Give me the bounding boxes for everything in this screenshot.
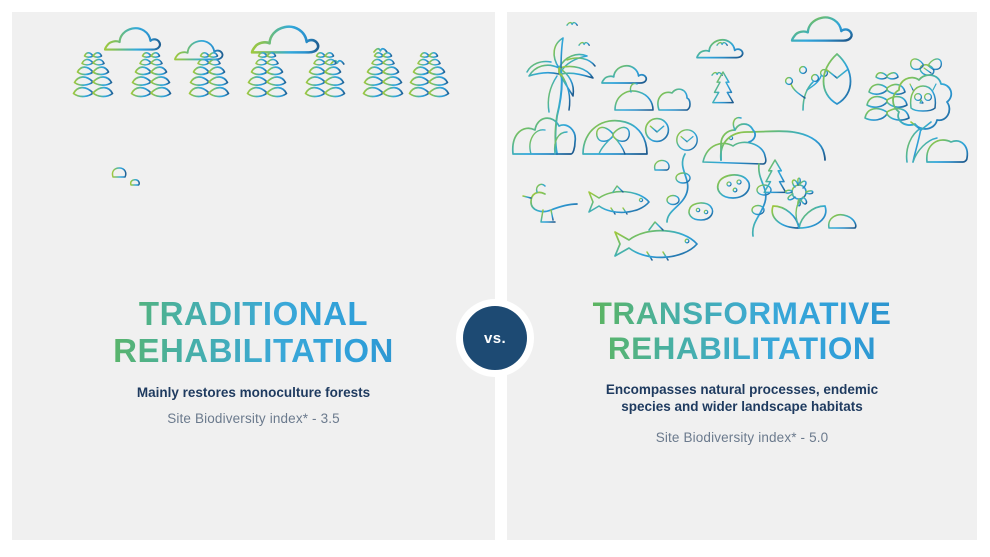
- stone-icon: [829, 215, 856, 228]
- traditional-biodiversity-index: Site Biodiversity index* - 3.5: [12, 411, 495, 426]
- owl-icon: [910, 84, 936, 111]
- bird-icon: [579, 43, 589, 46]
- cloud-icon: [252, 27, 318, 53]
- shrub: [907, 128, 968, 162]
- plantation-tree: [410, 52, 449, 160]
- infographic-root: TRADITIONAL REHABILITATION Mainly restor…: [0, 0, 990, 557]
- ground-bird: [521, 184, 587, 224]
- bee-icon: [911, 59, 942, 77]
- conifer-tree: [713, 72, 733, 111]
- butterfly-icon: [597, 127, 630, 154]
- stone-icon: [112, 168, 139, 185]
- transformative-biodiversity-index: Site Biodiversity index* - 5.0: [507, 430, 977, 445]
- river-stream: [667, 154, 771, 236]
- mushroom-icon: [689, 203, 713, 230]
- bird-icon: [717, 43, 727, 46]
- fern-plant: [865, 73, 909, 162]
- bird-icon: [374, 49, 387, 52]
- traditional-text-block: TRADITIONAL REHABILITATION Mainly restor…: [12, 296, 495, 426]
- shrub: [513, 118, 575, 154]
- shrub-round: [658, 89, 690, 110]
- berry-branch: [786, 67, 828, 110]
- page-title-traditional-line2: REHABILITATION: [12, 333, 495, 370]
- versus-badge: vs.: [463, 306, 527, 370]
- flower-icon: [786, 178, 813, 228]
- stone-icon: [655, 160, 669, 170]
- mushroom-icon: [718, 175, 750, 228]
- cloud-icon: [792, 17, 852, 40]
- plantation-tree: [306, 52, 345, 160]
- transformative-subtitle-line1: Encompasses natural processes, endemic: [606, 382, 878, 397]
- fish-icon: [589, 186, 649, 214]
- cloud-icon: [105, 28, 160, 49]
- transformative-subtitle: Encompasses natural processes, endemic s…: [507, 381, 977, 417]
- panel-traditional: [12, 12, 495, 540]
- hill-small: [615, 83, 653, 110]
- deciduous-tree: [646, 119, 669, 155]
- bird-icon: [331, 61, 344, 64]
- versus-badge-label: vs.: [484, 330, 506, 347]
- plantation-tree: [74, 52, 113, 160]
- panel-transformative: [507, 12, 977, 540]
- plantation-tree: [364, 52, 403, 160]
- fish-icon: [615, 222, 697, 260]
- transformative-subtitle-line2: species and wider landscape habitats: [621, 399, 863, 414]
- traditional-subtitle: Mainly restores monoculture forests: [12, 384, 495, 402]
- monoculture-plantation-illustration: [12, 12, 495, 292]
- transformative-text-block: TRANSFORMATIVE REHABILITATION Encompasse…: [507, 296, 977, 445]
- deciduous-tree: [677, 130, 697, 162]
- owl-tree: [893, 75, 951, 162]
- page-title-transformative-line1: TRANSFORMATIVE: [507, 296, 977, 331]
- bird-icon: [567, 23, 577, 26]
- palm-tree: [527, 38, 595, 154]
- page-title-traditional-line1: TRADITIONAL: [12, 296, 495, 333]
- leaf-tree: [824, 54, 851, 112]
- biodiverse-landscape-illustration: [507, 12, 977, 292]
- page-title-transformative-line2: REHABILITATION: [507, 331, 977, 366]
- bear-icon: [721, 118, 825, 160]
- conifer-tree: [764, 160, 786, 201]
- water-foam: [703, 142, 766, 176]
- plantation-tree: [132, 52, 171, 160]
- cloud-icon: [602, 66, 646, 83]
- plantation-tree: [190, 52, 229, 160]
- plantation-tree: [248, 52, 287, 160]
